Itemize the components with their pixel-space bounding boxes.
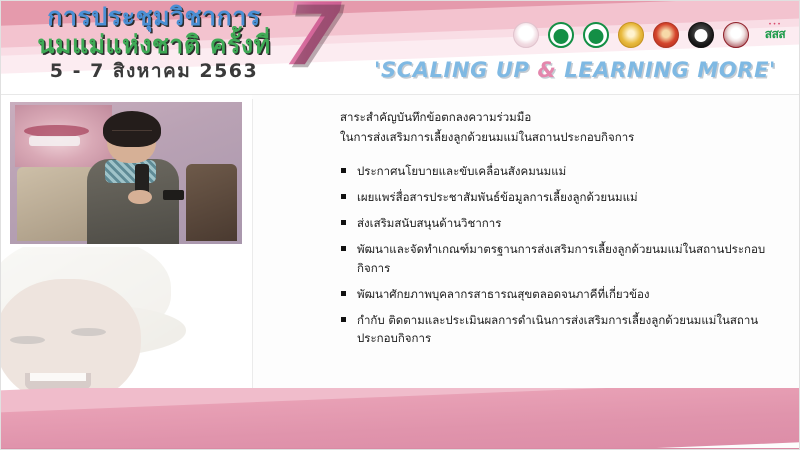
mou-bullet-list: ประกาศนโยบายและขับเคลื่อนสังคมนมแม่ เผยแ…: [340, 162, 785, 349]
black-seal-logo: [686, 22, 716, 54]
sponsor-logo-strip: ••• สสส: [511, 22, 794, 54]
royal-seal-icon: [513, 22, 539, 48]
content-heading-line-2: ในการส่งเสริมการเลี้ยงลูกด้วยนมแม่ในสถาน…: [340, 128, 785, 148]
maroon-university-icon: [723, 22, 749, 48]
content-heading-line-1: สาระสำคัญบันทึกข้อตกลงความร่วมมือ: [340, 108, 785, 128]
garuda-emblem-logo: [651, 22, 681, 54]
conference-title-line-1: การประชุมวิชาการ: [14, 4, 294, 32]
slide-content: สาระสำคัญบันทึกข้อตกลงความร่วมมือ ในการส…: [340, 108, 785, 356]
edition-number-seven: 7: [282, 0, 342, 78]
list-item: พัฒนาและจัดทำเกณฑ์มาตรฐานการส่งเสริมการเ…: [340, 240, 785, 277]
garuda-emblem-icon: [653, 22, 679, 48]
health-department-icon: [583, 22, 609, 48]
ministry-health-icon: [548, 22, 574, 48]
list-item: ส่งเสริมสนับสนุนด้านวิชาการ: [340, 214, 785, 233]
footer-pink-wedge: [0, 388, 800, 450]
royal-seal-logo: [511, 22, 541, 54]
slogan-prefix: 'SCALING UP: [374, 58, 538, 82]
conference-date: 5 - 7 สิงหาคม 2563: [14, 62, 294, 81]
speaker-presentation-photo: [10, 102, 242, 244]
content-heading: สาระสำคัญบันทึกข้อตกลงความร่วมมือ ในการส…: [340, 108, 785, 148]
list-item: ประกาศนโยบายและขับเคลื่อนสังคมนมแม่: [340, 162, 785, 181]
health-department-logo: [581, 22, 611, 54]
thaihealth-sss-logo: ••• สสส: [756, 22, 794, 54]
royal-emblem-logo: [616, 22, 646, 54]
column-divider: [252, 99, 253, 404]
list-item: เผยแพร่สื่อสารประชาสัมพันธ์ข้อมูลการเลี้…: [340, 188, 785, 207]
conference-title-block: การประชุมวิชาการ นมแม่แห่งชาติ ครั้งที่ …: [14, 4, 294, 81]
conference-slogan: 'SCALING UP & LEARNING MORE': [360, 58, 790, 82]
presentation-slide: การประชุมวิชาการ นมแม่แห่งชาติ ครั้งที่ …: [0, 0, 800, 450]
slogan-ampersand: &: [537, 58, 556, 82]
list-item: พัฒนาศักยภาพบุคลากรสาธารณสุขตลอดจนภาคีที…: [340, 285, 785, 304]
slide-header: การประชุมวิชาการ นมแม่แห่งชาติ ครั้งที่ …: [0, 0, 800, 95]
slogan-suffix: LEARNING MORE': [556, 58, 776, 82]
conference-title-line-2: นมแม่แห่งชาติ ครั้งที่: [14, 32, 294, 62]
list-item: กำกับ ติดตามและประเมินผลการดำเนินการส่งเ…: [340, 311, 785, 348]
thaihealth-label: สสส: [756, 25, 794, 44]
ministry-health-logo: [546, 22, 576, 54]
black-seal-icon: [688, 22, 714, 48]
royal-emblem-icon: [618, 22, 644, 48]
maroon-university-logo: [721, 22, 751, 54]
